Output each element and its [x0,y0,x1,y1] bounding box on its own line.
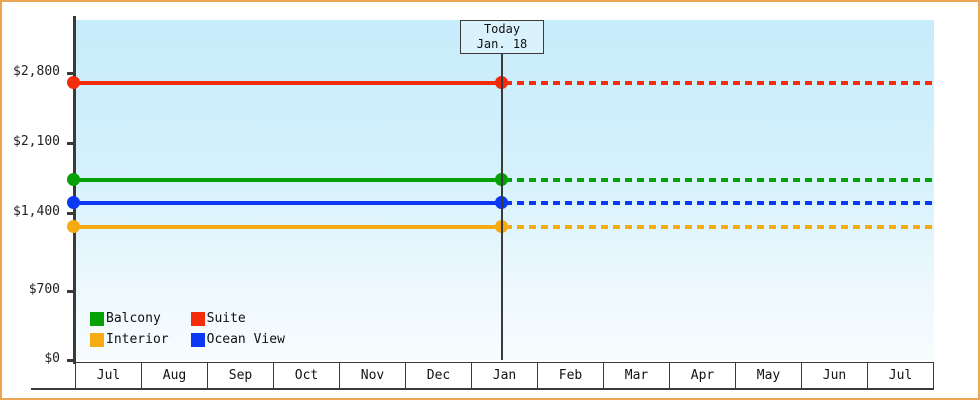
chart-legend: Balcony Suite Interior Ocean View [90,311,285,347]
series-marker-interior-start [67,220,80,233]
legend-label: Interior [106,332,169,347]
today-label-date: Jan. 18 [477,37,528,52]
plot-area [76,20,934,360]
month-cell-apr[interactable]: Apr [669,362,735,388]
series-line-interior-historical [73,225,503,229]
price-trend-chart: $2,800 $2,100 $1,400 $700 $0 Today Jan. … [0,0,980,400]
series-marker-balcony-start [67,173,80,186]
series-line-balcony-forecast [505,178,934,182]
series-line-ocean-view-forecast [505,201,934,205]
legend-label: Ocean View [207,332,285,347]
series-line-interior-forecast [505,225,934,229]
legend-swatch-icon [191,333,205,347]
month-axis-baseline [31,388,934,390]
month-cell-dec[interactable]: Dec [405,362,471,388]
y-tick-mark [67,142,75,145]
month-cell-oct[interactable]: Oct [273,362,339,388]
legend-swatch-icon [90,312,104,326]
month-cell-feb[interactable]: Feb [537,362,603,388]
y-tick-label: $2,800 [13,64,60,79]
today-marker-line [501,54,503,360]
y-tick-mark [67,359,75,362]
month-cell-sep[interactable]: Sep [207,362,273,388]
legend-item-ocean-view[interactable]: Ocean View [191,332,285,347]
series-line-balcony-historical [73,178,503,182]
series-marker-ocean-view-start [67,196,80,209]
month-cell-nov[interactable]: Nov [339,362,405,388]
legend-label: Balcony [106,311,161,326]
month-cell-jul-1[interactable]: Jul [75,362,141,388]
legend-swatch-icon [191,312,205,326]
month-cell-jul-2[interactable]: Jul [867,362,934,388]
y-axis-line [73,16,76,364]
y-tick-label: $2,100 [13,134,60,149]
month-cell-jun[interactable]: Jun [801,362,867,388]
legend-item-suite[interactable]: Suite [191,311,285,326]
legend-swatch-icon [90,333,104,347]
today-label-box: Today Jan. 18 [460,20,544,54]
series-line-suite-forecast [505,81,934,85]
month-cell-mar[interactable]: Mar [603,362,669,388]
today-label-title: Today [484,22,520,37]
y-tick-mark [67,290,75,293]
y-tick-label: $700 [29,282,60,297]
month-cell-jan[interactable]: Jan [471,362,537,388]
legend-label: Suite [207,311,246,326]
y-tick-mark [67,212,75,215]
series-line-ocean-view-historical [73,201,503,205]
month-cell-aug[interactable]: Aug [141,362,207,388]
y-tick-mark [67,72,75,75]
y-tick-label: $1,400 [13,204,60,219]
y-tick-label: $0 [44,351,60,366]
legend-item-interior[interactable]: Interior [90,332,169,347]
series-line-suite-historical [73,81,503,85]
series-marker-suite-start [67,76,80,89]
legend-item-balcony[interactable]: Balcony [90,311,169,326]
month-cell-may[interactable]: May [735,362,801,388]
month-axis: Jul Aug Sep Oct Nov Dec Jan Feb Mar Apr … [75,362,934,388]
